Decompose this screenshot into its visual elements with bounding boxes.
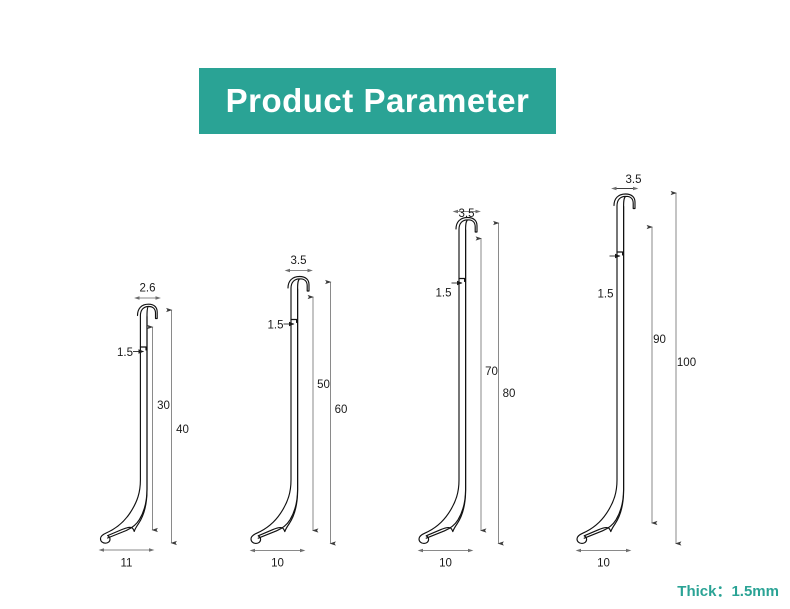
profile-40-dim-total-height: 40 (172, 310, 189, 543)
profile-100: 3.5 1.5 90 100 10 (577, 174, 696, 570)
profile-40-top-width-label: 2.6 (140, 283, 156, 295)
profile-40-thickness-label: 1.5 (117, 347, 133, 359)
profile-40-dim-base-width: 11 (101, 550, 152, 570)
profile-60-top-width-label: 3.5 (291, 255, 307, 267)
profile-80-dim-inner-height: 70 (481, 239, 498, 531)
profile-100-dim-total-height: 100 (676, 193, 696, 544)
profile-60-base-width-label: 10 (271, 558, 284, 570)
profile-40: 2.6 1.5 30 40 11 (101, 283, 189, 570)
profile-100-thickness-label: 1.5 (598, 289, 614, 301)
profile-80-barb-notch (459, 279, 465, 282)
profile-80-dim-top-width: 3.5 (455, 208, 479, 220)
profile-80-base-width-label: 10 (439, 558, 452, 570)
profile-40-outline (101, 304, 158, 543)
profile-40-dim-inner-height: 30 (153, 327, 170, 530)
profile-40-barb-notch (140, 347, 146, 350)
profile-100-base-width-label: 10 (597, 558, 610, 570)
profile-60-thickness-label: 1.5 (268, 320, 284, 332)
profile-60-dim-inner-height: 50 (313, 297, 330, 531)
profile-60: 3.5 1.5 50 60 10 (251, 255, 347, 570)
profile-40-dim-thickness: 1.5 (117, 347, 144, 359)
profile-60-dim-top-width: 3.5 (287, 255, 311, 270)
profile-40-dim-top-width: 2.6 (137, 283, 159, 298)
profile-80-outline (419, 218, 477, 544)
profile-40-inner-height-label: 30 (157, 400, 170, 412)
profile-80: 3.5 1.5 70 80 10 (419, 208, 515, 570)
profile-80-dim-total-height: 80 (499, 223, 516, 544)
profile-80-inner-line (426, 230, 465, 538)
profile-60-barb-notch (291, 320, 297, 323)
profiles-drawing: 2.6 1.5 30 40 11 (0, 0, 790, 609)
profile-80-total-height-label: 80 (503, 388, 516, 400)
profile-60-dim-thickness: 1.5 (268, 320, 295, 332)
profile-80-inner-height-label: 70 (485, 366, 498, 378)
profile-60-dim-base-width: 10 (252, 551, 303, 570)
profile-100-dim-top-width: 3.5 (614, 174, 642, 188)
profile-100-barb-notch (617, 252, 623, 255)
profile-100-inner-height-label: 90 (653, 334, 666, 346)
thickness-note: Thick：1.5mm (677, 580, 779, 601)
profile-100-outline (577, 194, 635, 543)
profile-100-total-height-label: 100 (677, 357, 696, 369)
profile-80-top-width-label: 3.5 (459, 208, 475, 220)
profile-100-dim-inner-height: 90 (652, 227, 666, 523)
profile-80-dim-thickness: 1.5 (436, 283, 463, 300)
profile-40-total-height-label: 40 (176, 424, 189, 436)
profile-60-outline (251, 277, 309, 544)
profile-60-inner-height-label: 50 (317, 379, 330, 391)
profile-40-base-width-label: 11 (121, 558, 133, 570)
profile-60-dim-total-height: 60 (331, 282, 348, 544)
drawing-canvas: Product Parameter (0, 0, 790, 609)
profile-80-dim-base-width: 10 (420, 551, 471, 570)
profile-100-dim-base-width: 10 (578, 551, 629, 570)
profile-100-top-width-label: 3.5 (626, 174, 642, 186)
profile-60-total-height-label: 60 (335, 404, 348, 416)
profile-80-thickness-label: 1.5 (436, 288, 452, 300)
